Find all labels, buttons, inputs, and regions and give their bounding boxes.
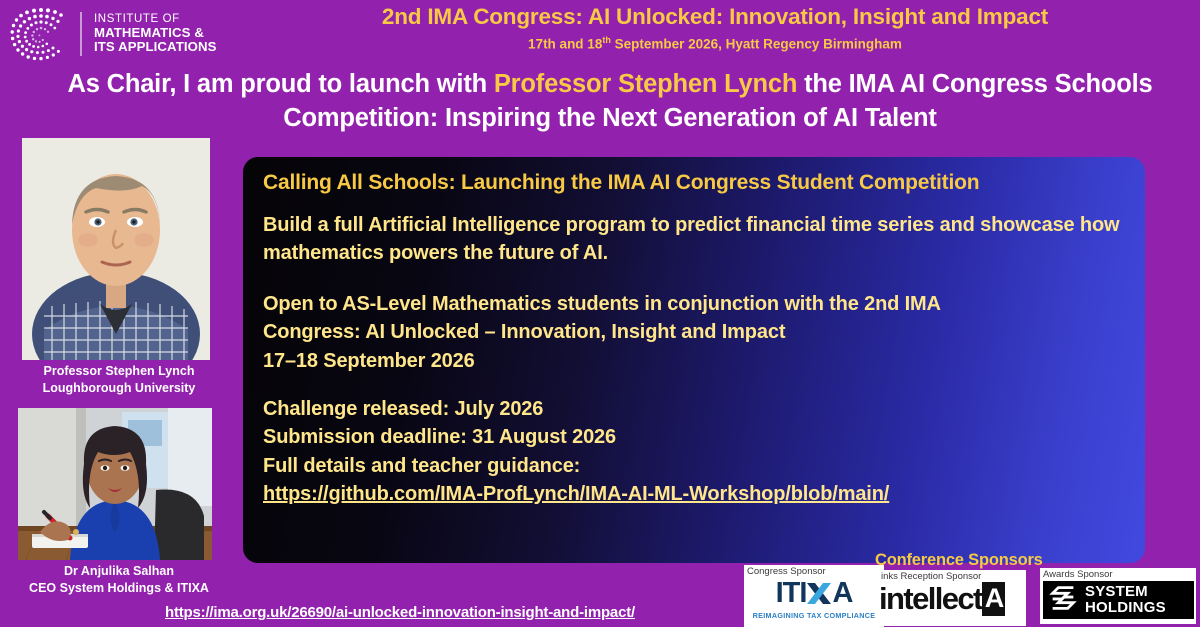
congress-sub-pre: 17th and 18 [528, 37, 602, 52]
logo-line-mathematics: MATHEMATICS & [94, 26, 230, 41]
sponsor-logo-itixa: Congress Sponsor ITI A REIMAGINING TAX C… [744, 565, 884, 627]
eligibility-line-3: 17–18 September 2026 [263, 347, 1125, 375]
panel-body: Build a full Artificial Intelligence pro… [263, 211, 1125, 509]
panel-paragraph-dates: Challenge released: July 2026 Submission… [263, 395, 1125, 509]
submission-deadline-line: Submission deadline: 31 August 2026 [263, 423, 1125, 451]
ima-logo-block: INSTITUTE OF MATHEMATICS & ITS APPLICATI… [8, 4, 230, 64]
panel-paragraph-eligibility: Open to AS-Level Mathematics students in… [263, 290, 1125, 375]
system-line-2: HOLDINGS [1085, 600, 1166, 616]
congress-sub-ordinal: th [602, 35, 611, 45]
congress-title: 2nd IMA Congress: AI Unlocked: Innovatio… [235, 4, 1195, 30]
eligibility-line-1: Open to AS-Level Mathematics students in… [263, 290, 1125, 318]
caption-name: Professor Stephen Lynch [0, 363, 238, 380]
poster-canvas: INSTITUTE OF MATHEMATICS & ITS APPLICATI… [0, 0, 1200, 627]
panel-paragraph-build: Build a full Artificial Intelligence pro… [263, 211, 1125, 268]
challenge-released-line: Challenge released: July 2026 [263, 395, 1125, 423]
itixa-wordmark: ITI A [744, 578, 884, 608]
itixa-tagline: REIMAGINING TAX COMPLIANCE [744, 611, 884, 620]
ima-spiral-dots-logo-icon [10, 5, 72, 63]
intellect-word: intellect [879, 583, 982, 614]
system-holdings-lockup: SYSTEM HOLDINGS [1043, 581, 1194, 619]
sponsor-kicker-awards: Awards Sponsor [1040, 568, 1196, 580]
system-holdings-interlock-icon [1047, 582, 1079, 619]
itixa-letter-a: A [832, 579, 852, 608]
intellectai-wordmark: intellect A [878, 582, 1026, 615]
header-bar: INSTITUTE OF MATHEMATICS & ITS APPLICATI… [0, 0, 1200, 68]
sponsor-kicker-congress: Congress Sponsor [744, 565, 884, 577]
github-workshop-link[interactable]: https://github.com/IMA-ProfLynch/IMA-AI-… [263, 480, 889, 508]
system-line-1: SYSTEM [1085, 584, 1166, 600]
system-holdings-wordmark: SYSTEM HOLDINGS [1085, 584, 1166, 615]
caption-affiliation: Loughborough University [0, 380, 238, 397]
heading-highlight-name: Professor Stephen Lynch [494, 70, 797, 98]
eligibility-line-2: Congress: AI Unlocked – Innovation, Insi… [263, 318, 1125, 346]
logo-line-institute: INSTITUTE OF [94, 13, 230, 26]
ima-event-page-link[interactable]: https://ima.org.uk/26690/ai-unlocked-inn… [60, 604, 740, 621]
congress-sub-post: September 2026, Hyatt Regency Birmingham [611, 37, 902, 52]
logo-line-applications: ITS APPLICATIONS [94, 40, 230, 55]
conference-sponsors-heading: Conference Sponsors [875, 551, 1043, 570]
logo-divider [80, 12, 82, 56]
caption-stephen-lynch: Professor Stephen Lynch Loughborough Uni… [0, 363, 238, 396]
caption-affiliation: CEO System Holdings & ITIXA [0, 580, 238, 597]
portrait-photo-stephen-lynch [22, 138, 210, 360]
caption-anjulika-salhan: Dr Anjulika Salhan CEO System Holdings &… [0, 563, 238, 596]
sponsor-logo-intellectai: inks Reception Sponsor intellect A [878, 570, 1026, 626]
heading-part-1: As Chair, I am proud to launch with [68, 70, 494, 98]
portrait-photo-anjulika-salhan [18, 408, 212, 560]
ima-logo-wordmark: INSTITUTE OF MATHEMATICS & ITS APPLICATI… [94, 13, 230, 55]
caption-name: Dr Anjulika Salhan [0, 563, 238, 580]
congress-date-venue: 17th and 18th September 2026, Hyatt Rege… [235, 35, 1195, 52]
itixa-letters-iti: ITI [776, 579, 807, 608]
intellect-ai-badge: A [982, 582, 1006, 616]
panel-title: Calling All Schools: Launching the IMA A… [263, 171, 1125, 195]
sponsor-logo-system-holdings: Awards Sponsor SYSTEM HOLDINGS [1040, 568, 1196, 624]
itixa-x-mark-icon [806, 580, 832, 607]
teacher-guidance-line: Full details and teacher guidance: [263, 452, 1125, 480]
page-title: As Chair, I am proud to launch with Prof… [40, 68, 1180, 135]
competition-announcement-panel: Calling All Schools: Launching the IMA A… [243, 157, 1145, 563]
